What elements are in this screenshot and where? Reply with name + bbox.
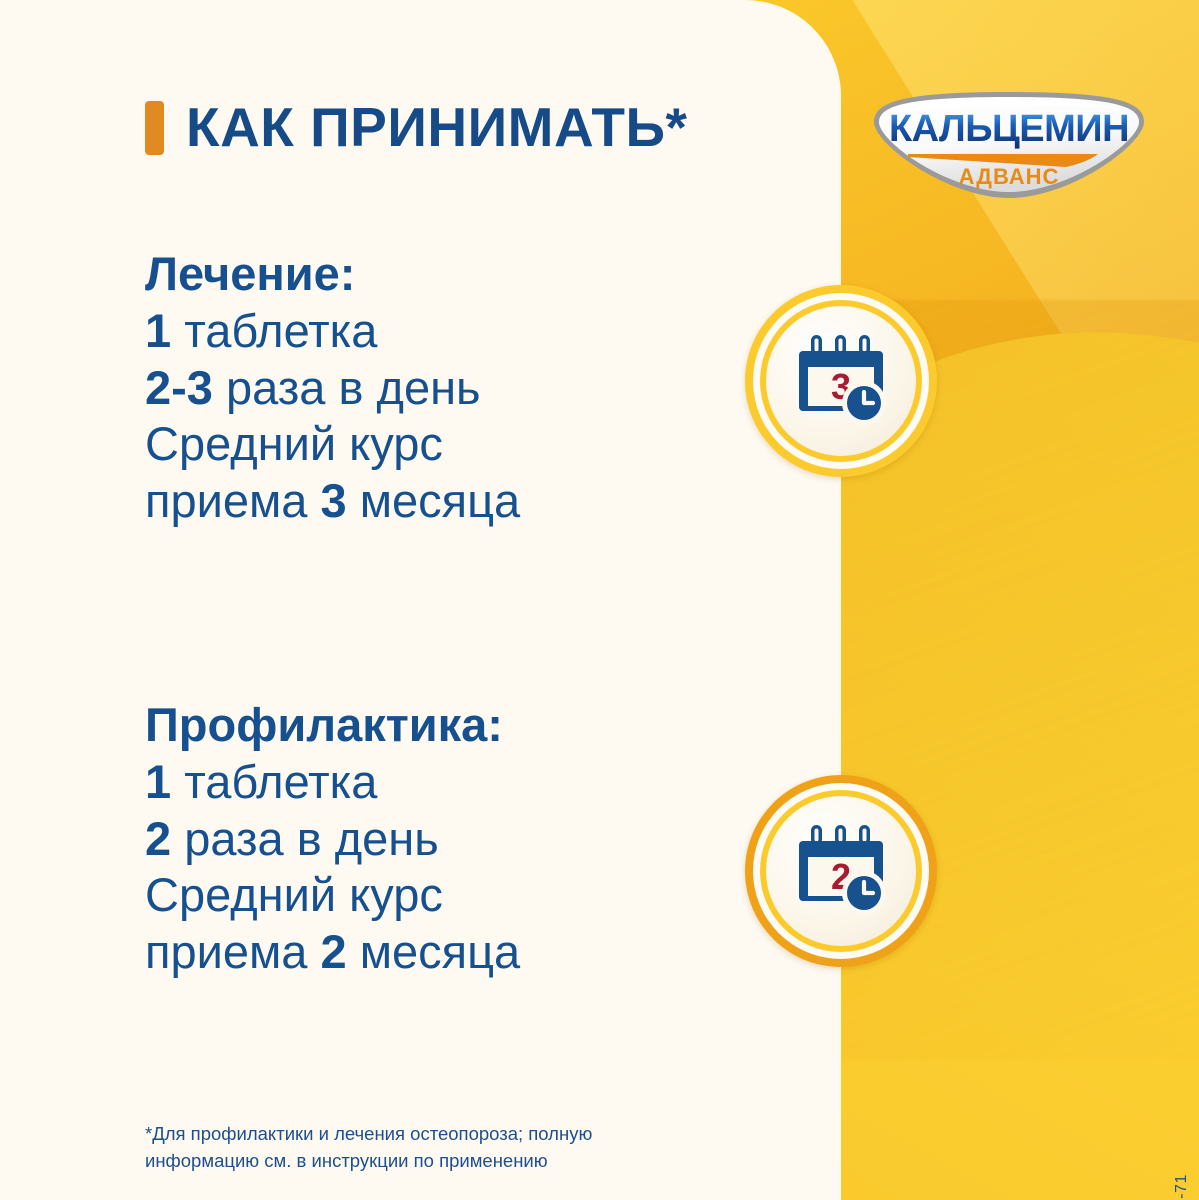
- dosage-rest: Средний курс: [145, 417, 443, 470]
- page-title: КАК ПРИНИМАТЬ*: [145, 100, 687, 155]
- title-accent-bar: [145, 101, 164, 155]
- dosage-rest-2: месяца: [347, 925, 521, 978]
- dosage-title-prevention: Профилактика:: [145, 697, 520, 752]
- dosage-line-prevention-1: 1 таблетка: [145, 754, 520, 810]
- calendar-clock-icon: 2: [789, 819, 893, 923]
- approval-code: CH-20250514-71: [1173, 1174, 1191, 1200]
- dosage-strong: 2: [321, 925, 347, 978]
- brand-subname-text: АДВАНС: [959, 164, 1060, 189]
- dosage-line-prevention-4: приема 2 месяца: [145, 924, 520, 980]
- dosage-block-treatment: Лечение: 1 таблетка 2-3 раза в день Сред…: [145, 246, 520, 529]
- poster: КАЛЬЦЕМИН АДВАНС КАК ПРИНИМАТЬ* Лечение:…: [0, 0, 1199, 1200]
- dosage-rest: приема: [145, 925, 321, 978]
- dosage-strong: 3: [321, 474, 347, 527]
- dosage-block-prevention: Профилактика: 1 таблетка 2 раза в день С…: [145, 697, 520, 980]
- dosage-line-treatment-4: приема 3 месяца: [145, 473, 520, 529]
- dosage-rest: Средний курс: [145, 868, 443, 921]
- dosage-strong: 1: [145, 755, 171, 808]
- badge-core: 2: [766, 796, 916, 946]
- calendar-badge-prevention: 2: [745, 775, 937, 967]
- dosage-rest: приема: [145, 474, 321, 527]
- calendar-badge-treatment: 3: [745, 285, 937, 477]
- dosage-title-treatment: Лечение:: [145, 246, 520, 301]
- brand-logo: КАЛЬЦЕМИН АДВАНС: [866, 86, 1152, 204]
- dosage-strong: 2: [145, 812, 171, 865]
- dosage-rest: раза в день: [213, 361, 481, 414]
- brand-name-text: КАЛЬЦЕМИН: [889, 108, 1129, 150]
- dosage-line-treatment-2: 2-3 раза в день: [145, 360, 520, 416]
- dosage-rest-2: месяца: [347, 474, 521, 527]
- dosage-strong: 2-3: [145, 361, 213, 414]
- dosage-line-prevention-3: Средний курс: [145, 867, 520, 923]
- content-panel: [0, 0, 841, 1200]
- calendar-clock-icon: 3: [789, 329, 893, 433]
- dosage-rest: раза в день: [171, 812, 439, 865]
- dosage-rest: таблетка: [171, 304, 377, 357]
- badge-core: 3: [766, 306, 916, 456]
- footnote-text: *Для профилактики и лечения остеопороза;…: [145, 1121, 665, 1175]
- dosage-rest: таблетка: [171, 755, 377, 808]
- dosage-line-treatment-1: 1 таблетка: [145, 303, 520, 359]
- dosage-line-prevention-2: 2 раза в день: [145, 811, 520, 867]
- title-text: КАК ПРИНИМАТЬ*: [186, 100, 687, 155]
- dosage-strong: 1: [145, 304, 171, 357]
- dosage-line-treatment-3: Средний курс: [145, 416, 520, 472]
